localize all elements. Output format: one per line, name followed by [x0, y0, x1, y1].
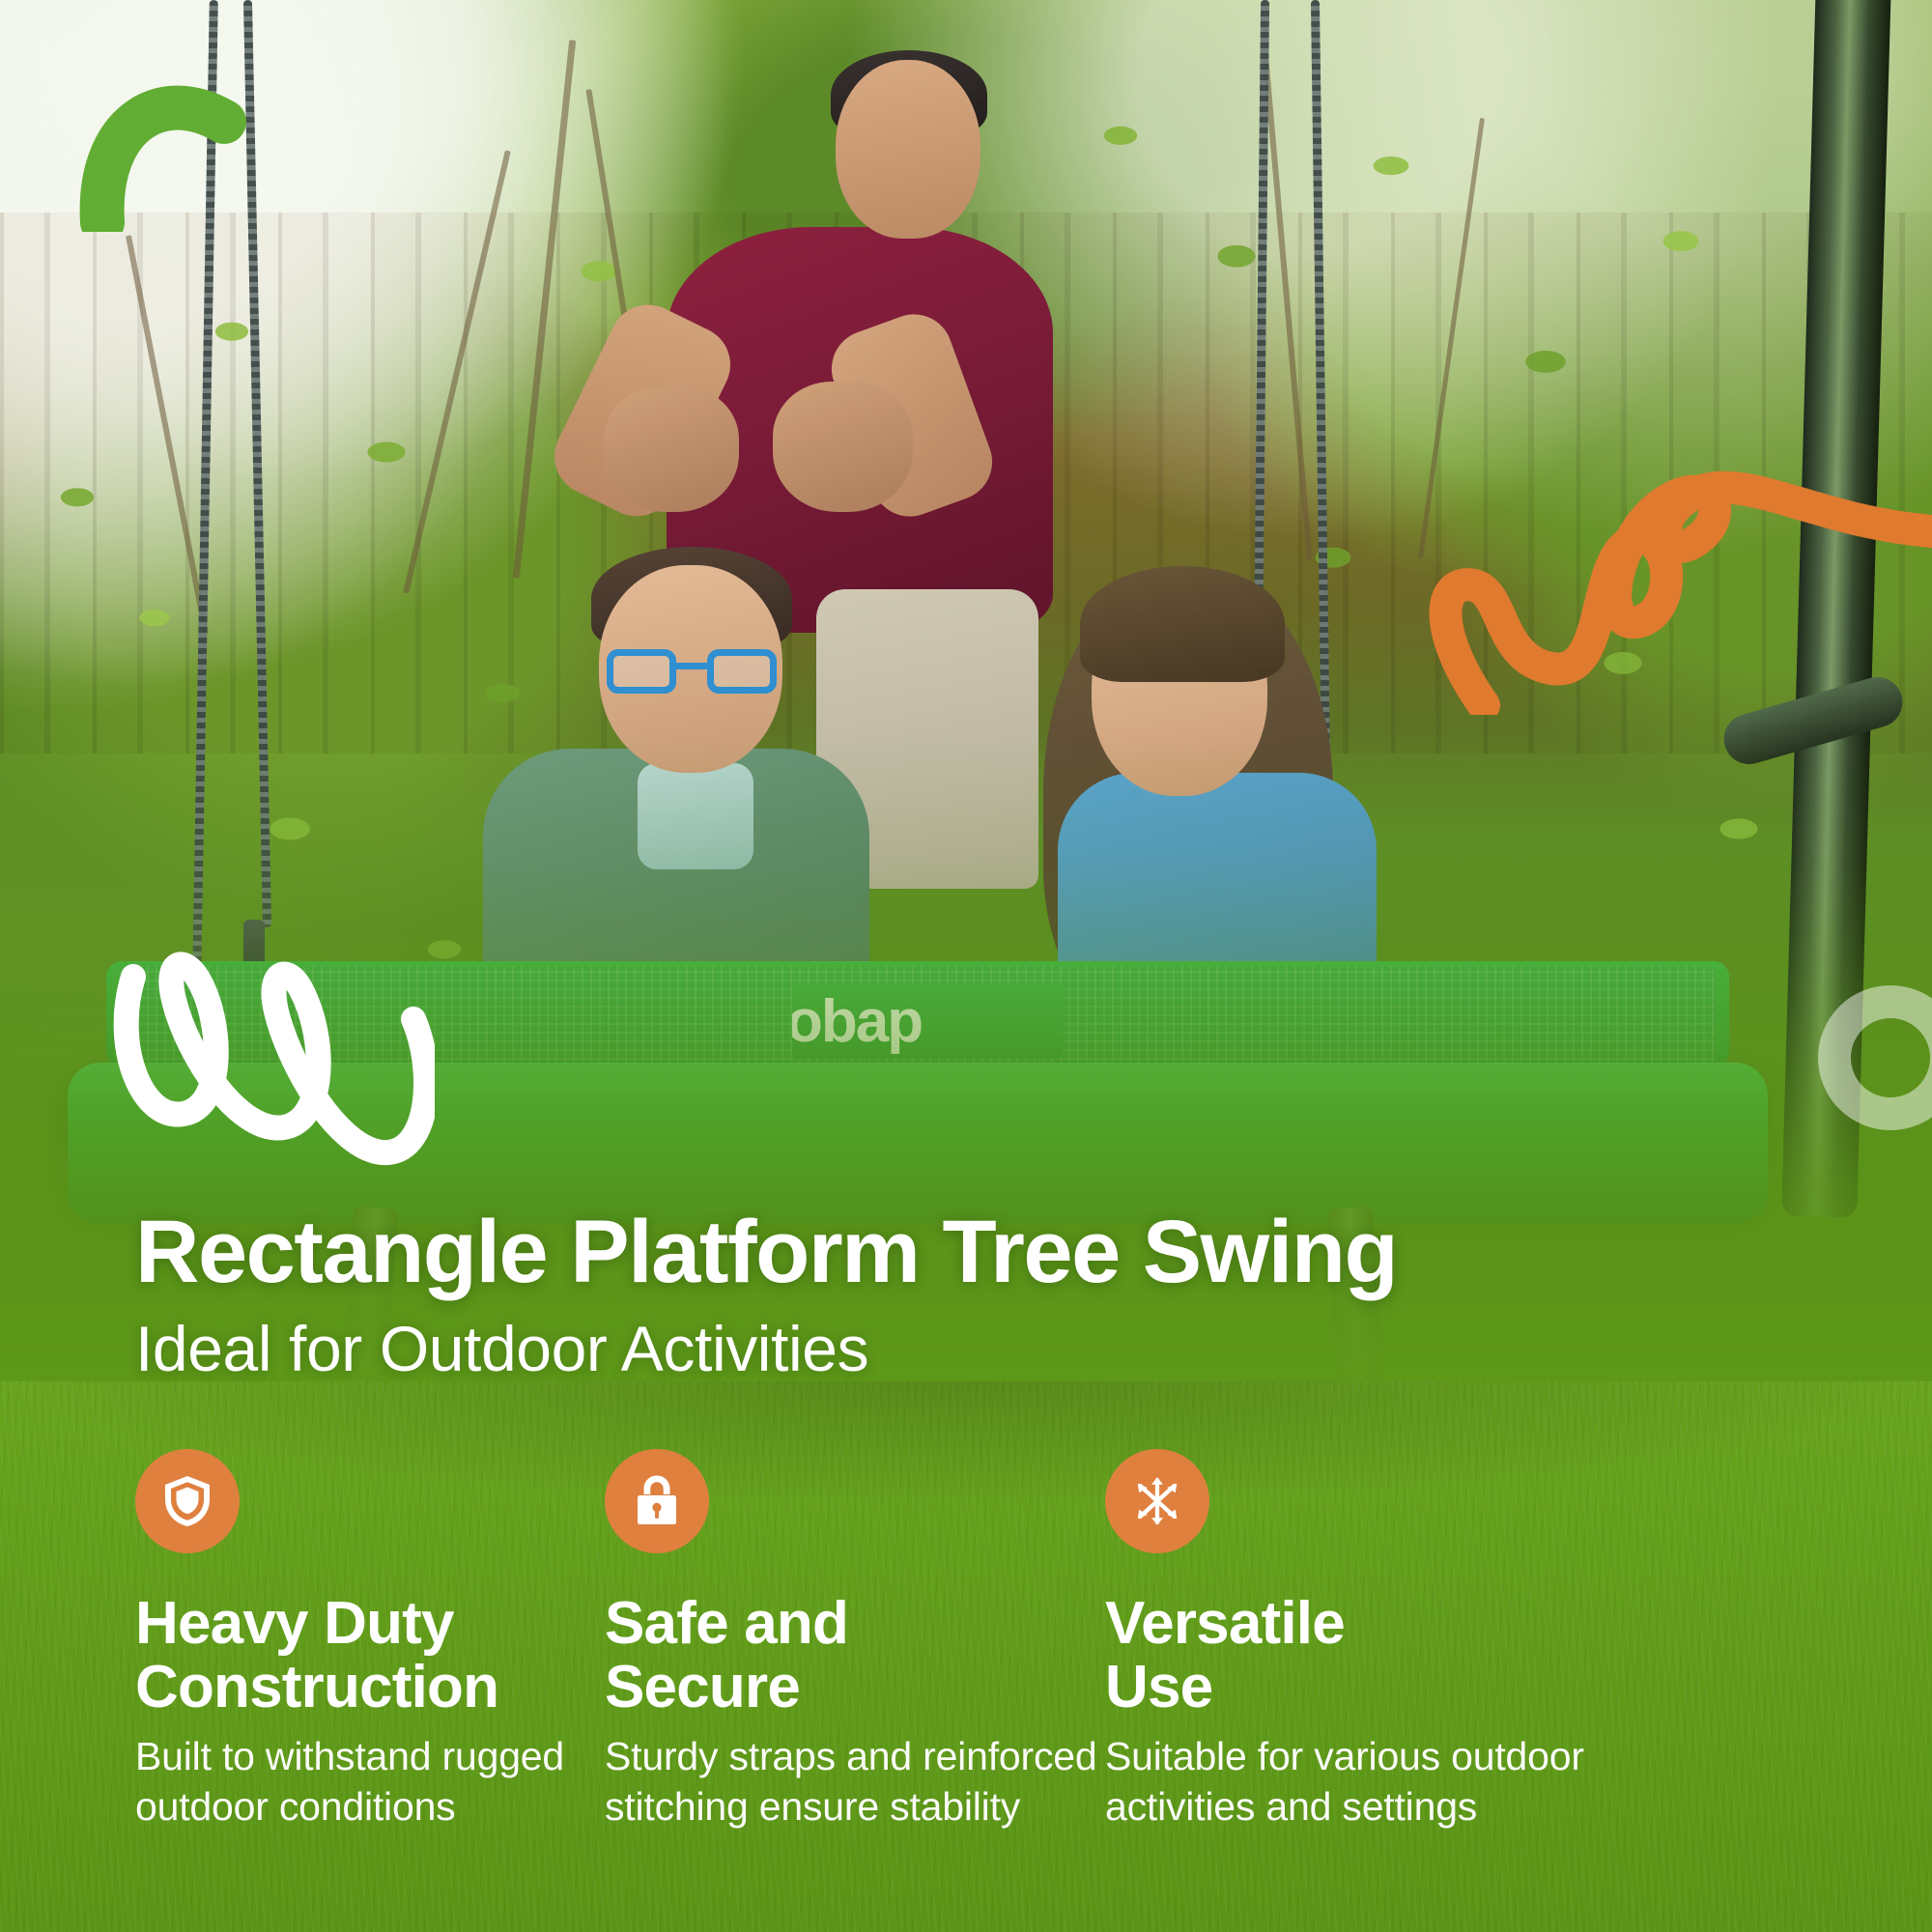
feature-description: Sturdy straps and reinforced stitching e…: [605, 1732, 1105, 1832]
feature-list: Heavy Duty Construction Built to withsta…: [135, 1449, 1816, 1833]
feature-title: Heavy Duty Construction: [135, 1592, 605, 1719]
feature-title: Versatile Use: [1105, 1592, 1607, 1719]
feature-description: Built to withstand rugged outdoor condit…: [135, 1732, 605, 1832]
product-marketing-poster: obap Rectangle Platform Tree Swing Ideal…: [0, 0, 1932, 1932]
feature-title: Safe and Secure: [605, 1592, 1105, 1719]
page-subtitle: Ideal for Outdoor Activities: [135, 1314, 1777, 1385]
feature-description: Suitable for various outdoor activities …: [1105, 1732, 1607, 1832]
page-title: Rectangle Platform Tree Swing: [135, 1207, 1777, 1298]
feature-item-versatile-use: Versatile Use Suitable for various outdo…: [1105, 1449, 1607, 1833]
multi-direction-arrows-icon: [1105, 1449, 1209, 1553]
feature-item-safe-and-secure: Safe and Secure Sturdy straps and reinfo…: [605, 1449, 1105, 1833]
product-title-block: Rectangle Platform Tree Swing Ideal for …: [135, 1207, 1777, 1385]
shield-icon: [135, 1449, 240, 1553]
lock-icon: [605, 1449, 709, 1553]
feature-item-heavy-duty-construction: Heavy Duty Construction Built to withsta…: [135, 1449, 605, 1833]
